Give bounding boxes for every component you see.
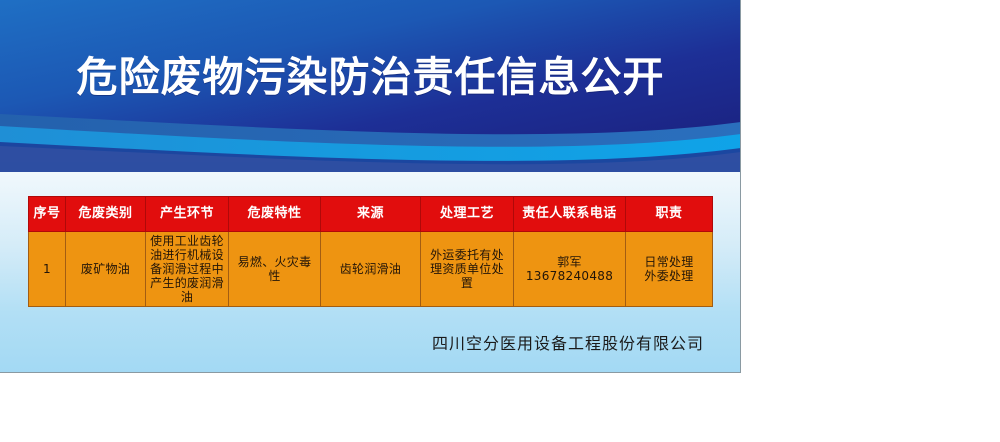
column-header-category: 危废类别 <box>66 197 146 232</box>
column-header-duty: 职责 <box>626 197 713 232</box>
cell-hazard-property: 易燃、火灾毒性 <box>229 232 321 307</box>
banner-header: 危险废物污染防治责任信息公开 <box>0 0 741 172</box>
cell-responsible-contact: 郭军 13678240488 <box>514 232 626 307</box>
hazardous-waste-table: 序号 危废类别 产生环节 危废特性 来源 处理工艺 责任人联系电话 职责 1 废… <box>28 196 713 307</box>
duty-line-2: 外委处理 <box>629 269 709 283</box>
cell-source: 齿轮润滑油 <box>321 232 421 307</box>
table-header-row: 序号 危废类别 产生环节 危废特性 来源 处理工艺 责任人联系电话 职责 <box>29 197 713 232</box>
column-header-contact: 责任人联系电话 <box>514 197 626 232</box>
column-header-source: 来源 <box>321 197 421 232</box>
hazardous-waste-table-wrapper: 序号 危废类别 产生环节 危废特性 来源 处理工艺 责任人联系电话 职责 1 废… <box>28 196 712 307</box>
cell-generation-step: 使用工业齿轮油进行机械设备润滑过程中产生的废润滑油 <box>146 232 229 307</box>
column-header-hazard: 危废特性 <box>229 197 321 232</box>
cell-treatment-process: 外运委托有处理资质单位处置 <box>421 232 514 307</box>
responsible-person-phone: 13678240488 <box>517 269 622 283</box>
column-header-treatment: 处理工艺 <box>421 197 514 232</box>
responsible-person-name: 郭军 <box>517 255 622 269</box>
column-header-index: 序号 <box>29 197 66 232</box>
page-title: 危险废物污染防治责任信息公开 <box>0 50 741 104</box>
cell-category: 废矿物油 <box>66 232 146 307</box>
table-row: 1 废矿物油 使用工业齿轮油进行机械设备润滑过程中产生的废润滑油 易燃、火灾毒性… <box>29 232 713 307</box>
column-header-generation: 产生环节 <box>146 197 229 232</box>
poster-canvas: 危险废物污染防治责任信息公开 序号 危废类别 产生环节 危废特性 来源 处理工艺… <box>0 0 741 373</box>
cell-duty: 日常处理 外委处理 <box>626 232 713 307</box>
cell-index: 1 <box>29 232 66 307</box>
company-name: 四川空分医用设备工程股份有限公司 <box>0 330 712 354</box>
duty-line-1: 日常处理 <box>629 255 709 269</box>
